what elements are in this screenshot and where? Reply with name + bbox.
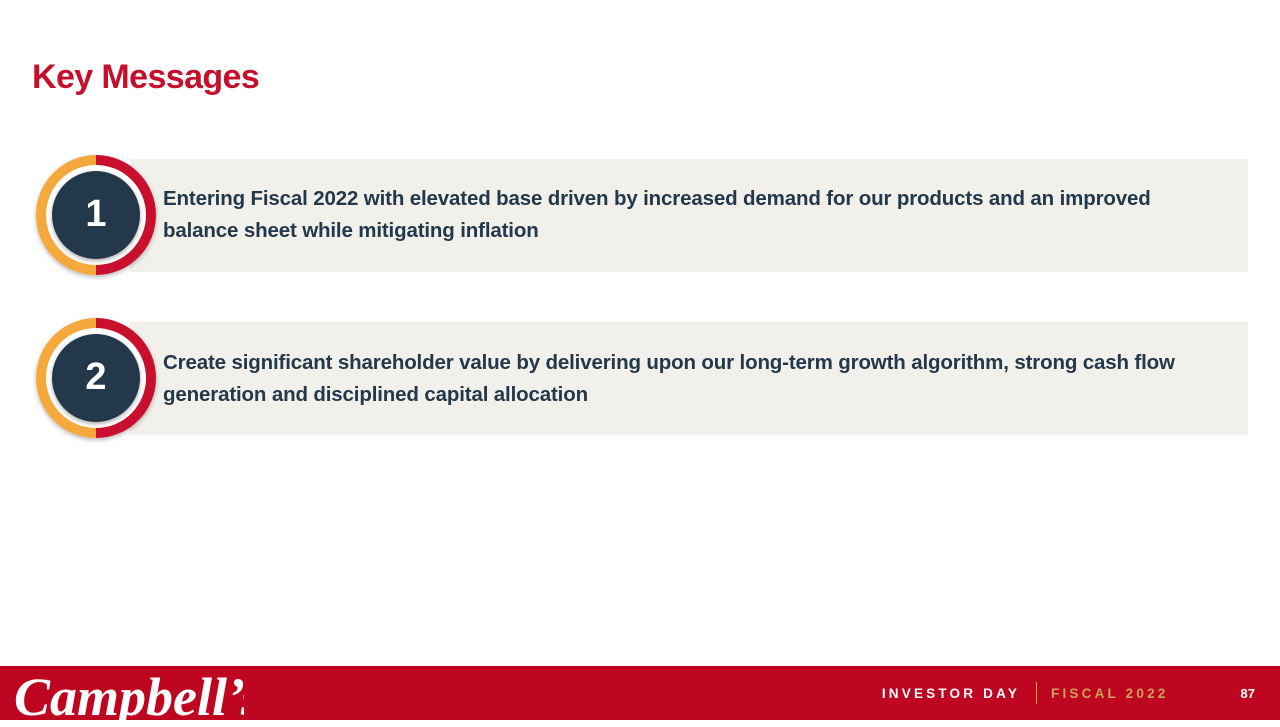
footer-event-label: INVESTOR DAY (882, 686, 1020, 701)
key-message-item: 2 Create significant shareholder value b… (0, 316, 1280, 441)
message-text: Entering Fiscal 2022 with elevated base … (163, 183, 1223, 247)
badge-core: 2 (52, 334, 140, 422)
svg-text:Campbell’s: Campbell’s (14, 669, 244, 727)
footer-divider (1036, 682, 1037, 704)
message-text: Create significant shareholder value by … (163, 347, 1223, 411)
footer-right-group: INVESTOR DAY FISCAL 2022 87 (882, 666, 1280, 720)
badge-core: 1 (52, 171, 140, 259)
page-title: Key Messages (32, 60, 259, 94)
footer-fiscal-label: FISCAL 2022 (1051, 686, 1169, 701)
message-number-badge: 1 (36, 155, 156, 275)
campbells-logo: Campbell’s (14, 669, 244, 727)
page-number: 87 (1241, 686, 1255, 701)
badge-number-label: 1 (85, 195, 106, 236)
key-message-item: 1 Entering Fiscal 2022 with elevated bas… (0, 153, 1280, 278)
message-number-badge: 2 (36, 318, 156, 438)
footer-bar: Campbell’s INVESTOR DAY FISCAL 2022 87 (0, 666, 1280, 720)
badge-number-label: 2 (85, 358, 106, 399)
